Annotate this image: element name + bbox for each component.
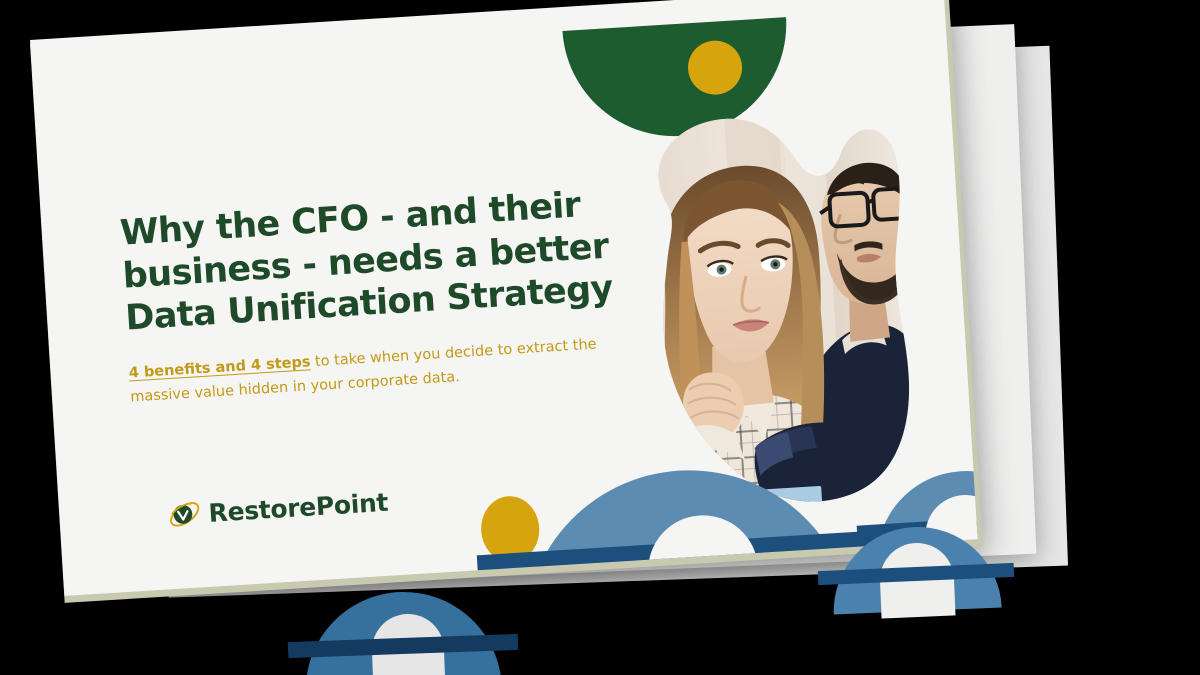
cover-subtitle-lead: 4 benefits and 4 steps	[128, 354, 311, 381]
restorepoint-wordmark: RestorePoint	[208, 487, 389, 527]
cover-text-block: Why the CFO - and their business - needs…	[119, 182, 630, 410]
restorepoint-orbit-check-icon	[167, 496, 203, 532]
cover-photo	[632, 98, 924, 514]
front-page-cover[interactable]: Why the CFO - and their business - needs…	[30, 0, 978, 596]
cover-subtitle: 4 benefits and 4 steps to take when you …	[128, 334, 600, 410]
page-2-blue-dome-ornament	[818, 527, 1014, 589]
cover-photo-svg	[632, 98, 924, 514]
restorepoint-logo[interactable]: RestorePoint	[167, 485, 389, 533]
scene-root: Why the CFO - and their business - needs…	[0, 0, 1200, 675]
page-3-blue-dome-ornament	[288, 592, 518, 652]
page-title: Why the CFO - and their business - needs…	[119, 182, 626, 341]
